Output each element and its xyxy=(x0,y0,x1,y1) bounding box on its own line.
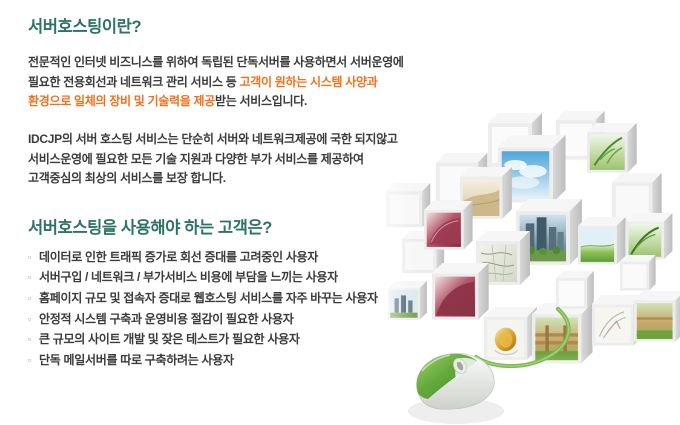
list-item-label: 안정적 시스템 구축과 운영비용 절감이 필요한 사용자 xyxy=(39,310,294,330)
bullet-square-icon: ▫ xyxy=(28,330,39,350)
page-title-customers: 서버호스팅을 사용해야 하는 고객은? xyxy=(28,219,468,237)
bullet-square-icon: ▫ xyxy=(28,310,39,330)
paragraph-line: IDCJP의 서버 호스팅 서비스는 단순히 서버와 네트워크제공에 국한 되지… xyxy=(28,130,468,149)
section-spacer xyxy=(28,189,468,219)
list-item-label: 홈페이지 규모 및 접속자 증대로 웹호스팅 서비스를 자주 바꾸는 사용자 xyxy=(39,289,378,309)
intro-p1-line2-highlight: 고객이 원하는 시스템 사양과 xyxy=(240,75,378,89)
list-item-label: 서버구입 / 네트워크 / 부가서비스 비용에 부담을 느끼는 사용자 xyxy=(39,268,338,288)
bullet-square-icon: ▫ xyxy=(28,248,39,268)
paragraph-line: 필요한 전용회선과 네트워크 관리 서비스 등 고객이 원하는 시스템 사양과 xyxy=(28,73,468,92)
intro-paragraph-2: IDCJP의 서버 호스팅 서비스는 단순히 서버와 네트워크제공에 국한 되지… xyxy=(28,130,468,188)
intro-p1-line3-plain: 받는 서비스입니다. xyxy=(215,94,307,108)
intro-p1-line3-highlight: 환경으로 일체의 장비 및 기술력을 제공 xyxy=(28,94,215,108)
page-root: 서버호스팅이란? 전문적인 인터넷 비즈니스를 위하여 독립된 단독서버를 사용… xyxy=(0,0,680,425)
intro-p1-line2-plain: 필요한 전용회선과 네트워크 관리 서비스 등 xyxy=(28,75,240,89)
text-content: 서버호스팅이란? 전문적인 인터넷 비즈니스를 위하여 독립된 단독서버를 사용… xyxy=(28,0,468,371)
intro-p2-line1: IDCJP의 서버 호스팅 서비스는 단순히 서버와 네트워크제공에 국한 되지… xyxy=(28,132,398,146)
list-item: ▫ 데이터로 인한 트래픽 증가로 회선 증대를 고려중인 사용자 xyxy=(28,248,468,269)
list-item: ▫ 단독 메일서버를 따로 구축하려는 사용자 xyxy=(28,351,468,372)
bullet-square-icon: ▫ xyxy=(28,289,39,309)
bullet-square-icon: ▫ xyxy=(28,351,39,371)
intro-p1-line1: 전문적인 인터넷 비즈니스를 위하여 독립된 단독서버를 사용하면서 서버운영에 xyxy=(28,55,404,69)
page-title-intro: 서버호스팅이란? xyxy=(28,18,468,36)
list-item: ▫ 안정적 시스템 구축과 운영비용 절감이 필요한 사용자 xyxy=(28,310,468,331)
list-item: ▫ 큰 규모의 사이트 개발 및 잦은 테스트가 필요한 사용자 xyxy=(28,330,468,351)
customer-bullet-list: ▫ 데이터로 인한 트래픽 증가로 회선 증대를 고려중인 사용자 ▫ 서버구입… xyxy=(28,248,468,372)
intro-paragraph-1: 전문적인 인터넷 비즈니스를 위하여 독립된 단독서버를 사용하면서 서버운영에… xyxy=(28,53,468,111)
paragraph-line: 고객중심의 최상의 서비스를 보장 합니다. xyxy=(28,169,468,188)
list-item-label: 큰 규모의 사이트 개발 및 잦은 테스트가 필요한 사용자 xyxy=(39,330,300,350)
intro-p2-line3: 고객중심의 최상의 서비스를 보장 합니다. xyxy=(28,171,226,185)
mouse-cable xyxy=(476,309,569,366)
bullet-square-icon: ▫ xyxy=(28,268,39,288)
list-item: ▫ 서버구입 / 네트워크 / 부가서비스 비용에 부담을 느끼는 사용자 xyxy=(28,268,468,289)
list-item: ▫ 홈페이지 규모 및 접속자 증대로 웹호스팅 서비스를 자주 바꾸는 사용자 xyxy=(28,289,468,310)
paragraph-line: 전문적인 인터넷 비즈니스를 위하여 독립된 단독서버를 사용하면서 서버운영에 xyxy=(28,53,468,72)
intro-p2-line2: 서비스운영에 필요한 모든 기술 지원과 다양한 부가 서비스를 제공하여 xyxy=(28,152,364,166)
paragraph-line: 서비스운영에 필요한 모든 기술 지원과 다양한 부가 서비스를 제공하여 xyxy=(28,150,468,169)
list-item-label: 단독 메일서버를 따로 구축하려는 사용자 xyxy=(39,351,234,371)
list-item-label: 데이터로 인한 트래픽 증가로 회선 증대를 고려중인 사용자 xyxy=(39,248,318,268)
list-spacer xyxy=(28,237,468,248)
paragraph-line: 환경으로 일체의 장비 및 기술력을 제공받는 서비스입니다. xyxy=(28,92,468,111)
